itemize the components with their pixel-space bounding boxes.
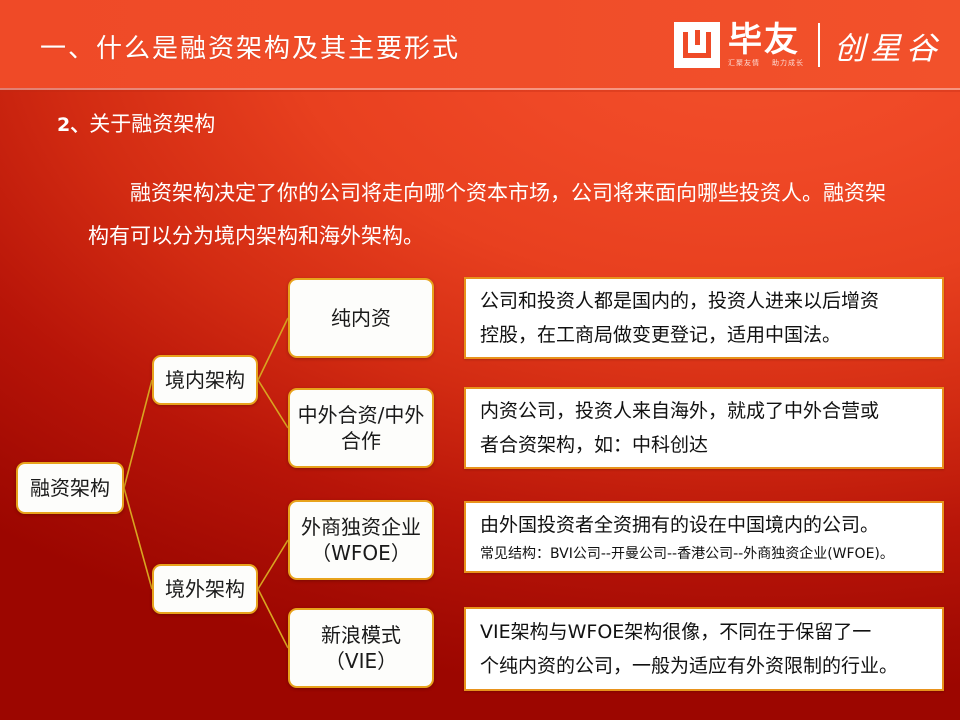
description-box-vie: VIE架构与WFOE架构很像，不同在于保留了一 个纯内资的公司，一般为适应有外资… <box>464 607 944 691</box>
description-box-sino-foreign-jv: 内资公司，投资人来自海外，就成了中外合营或 者合资架构，如：中科创达 <box>464 387 944 469</box>
node-label: 境内架构 <box>159 367 251 393</box>
description-line: 内资公司，投资人来自海外，就成了中外合营或 <box>480 394 928 428</box>
description-box-wfoe: 由外国投资者全资拥有的设在中国境内的公司。 常见结构：BVI公司--开曼公司--… <box>464 501 944 573</box>
connector-domestic-to-leaf0 <box>258 318 288 380</box>
description-line: 公司和投资人都是国内的，投资人进来以后增资 <box>480 284 928 318</box>
diagram-node-wfoe[interactable]: 外商独资企业（WFOE） <box>288 500 434 580</box>
node-label: 外商独资企业（WFOE） <box>295 514 427 566</box>
description-line: VIE架构与WFOE架构很像，不同在于保留了一 <box>480 615 928 649</box>
diagram-node-pure-domestic[interactable]: 纯内资 <box>288 278 434 358</box>
description-line: 由外国投资者全资拥有的设在中国境内的公司。 <box>480 508 928 542</box>
connector-offshore-to-leaf3 <box>258 589 288 648</box>
node-label: 境外架构 <box>159 576 251 602</box>
node-label: 中外合资/中外合作 <box>290 402 432 454</box>
connector-domestic-to-leaf1 <box>258 380 288 428</box>
diagram-node-domestic-structure[interactable]: 境内架构 <box>152 355 258 405</box>
connector-root-to-offshore <box>124 488 152 589</box>
connector-offshore-to-leaf2 <box>258 540 288 589</box>
node-label: 新浪模式（VIE） <box>315 622 407 674</box>
description-line: 个纯内资的公司，一般为适应有外资限制的行业。 <box>480 649 928 683</box>
diagram-node-root[interactable]: 融资架构 <box>16 462 124 514</box>
description-line: 者合资架构，如：中科创达 <box>480 428 928 462</box>
description-box-pure-domestic: 公司和投资人都是国内的，投资人进来以后增资 控股，在工商局做变更登记，适用中国法… <box>464 277 944 359</box>
connector-root-to-domestic <box>124 380 152 488</box>
slide-canvas: 一、什么是融资架构及其主要形式 毕友 汇聚友情 助力成长 创星谷 2、关于融资架… <box>0 0 960 720</box>
node-label: 融资架构 <box>24 475 116 501</box>
diagram-node-offshore-structure[interactable]: 境外架构 <box>152 564 258 614</box>
diagram-node-sino-foreign-jv[interactable]: 中外合资/中外合作 <box>288 388 434 468</box>
diagram-node-sina-vie[interactable]: 新浪模式（VIE） <box>288 608 434 688</box>
description-line-secondary: 常见结构：BVI公司--开曼公司--香港公司--外商独资企业(WFOE)。 <box>480 542 928 566</box>
financing-structure-diagram: 融资架构 境内架构 境外架构 纯内资 中外合资/中外合作 外商独资企业（WFOE… <box>0 0 960 720</box>
node-label: 纯内资 <box>325 305 397 331</box>
description-line: 控股，在工商局做变更登记，适用中国法。 <box>480 318 928 352</box>
